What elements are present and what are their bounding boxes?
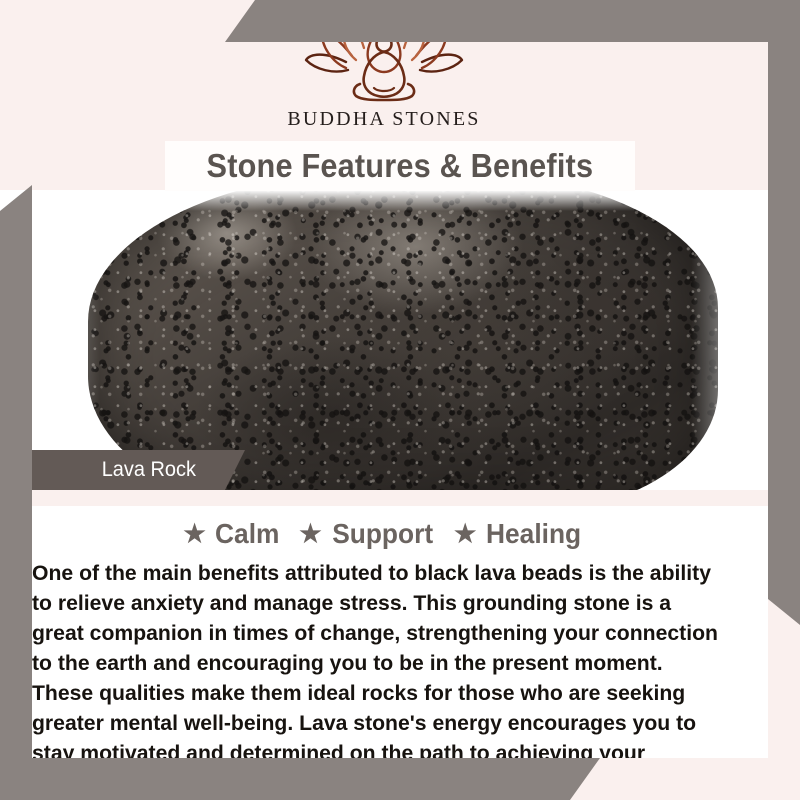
benefits-paragraph: One of the main benefits attributed to b… xyxy=(32,558,725,758)
keyword-item-calm: ★ Calm xyxy=(183,518,281,550)
frame-band-bottom xyxy=(0,758,600,800)
star-icon: ★ xyxy=(454,522,476,547)
photo-caption-label: Lava Rock xyxy=(20,458,196,482)
photo-caption-bar: Lava Rock xyxy=(20,450,245,490)
page-title: Stone Features & Benefits xyxy=(207,147,594,185)
keyword-label: Support xyxy=(332,518,433,550)
stone-photo xyxy=(0,190,768,490)
frame-band-top xyxy=(225,0,800,42)
star-icon: ★ xyxy=(299,522,321,547)
section-divider xyxy=(0,490,768,506)
benefits-card: ★ Calm ★ Support ★ Healing One of the ma… xyxy=(0,506,768,758)
frame-band-left xyxy=(0,185,32,800)
keyword-label: Healing xyxy=(486,518,581,550)
brand-name: BUDDHA STONES xyxy=(287,108,480,131)
title-banner: Stone Features & Benefits xyxy=(165,141,635,191)
lava-rock-image xyxy=(88,190,718,490)
keyword-label: Calm xyxy=(215,518,279,550)
star-icon: ★ xyxy=(183,522,205,547)
keyword-row: ★ Calm ★ Support ★ Healing xyxy=(0,506,768,550)
keyword-item-healing: ★ Healing xyxy=(454,518,585,550)
keyword-item-support: ★ Support xyxy=(299,518,436,550)
poster-canvas: BUDDHA STONES Stone Features & Benefits … xyxy=(0,0,800,800)
frame-band-right xyxy=(768,0,800,625)
poster-inner: BUDDHA STONES Stone Features & Benefits … xyxy=(0,0,768,758)
